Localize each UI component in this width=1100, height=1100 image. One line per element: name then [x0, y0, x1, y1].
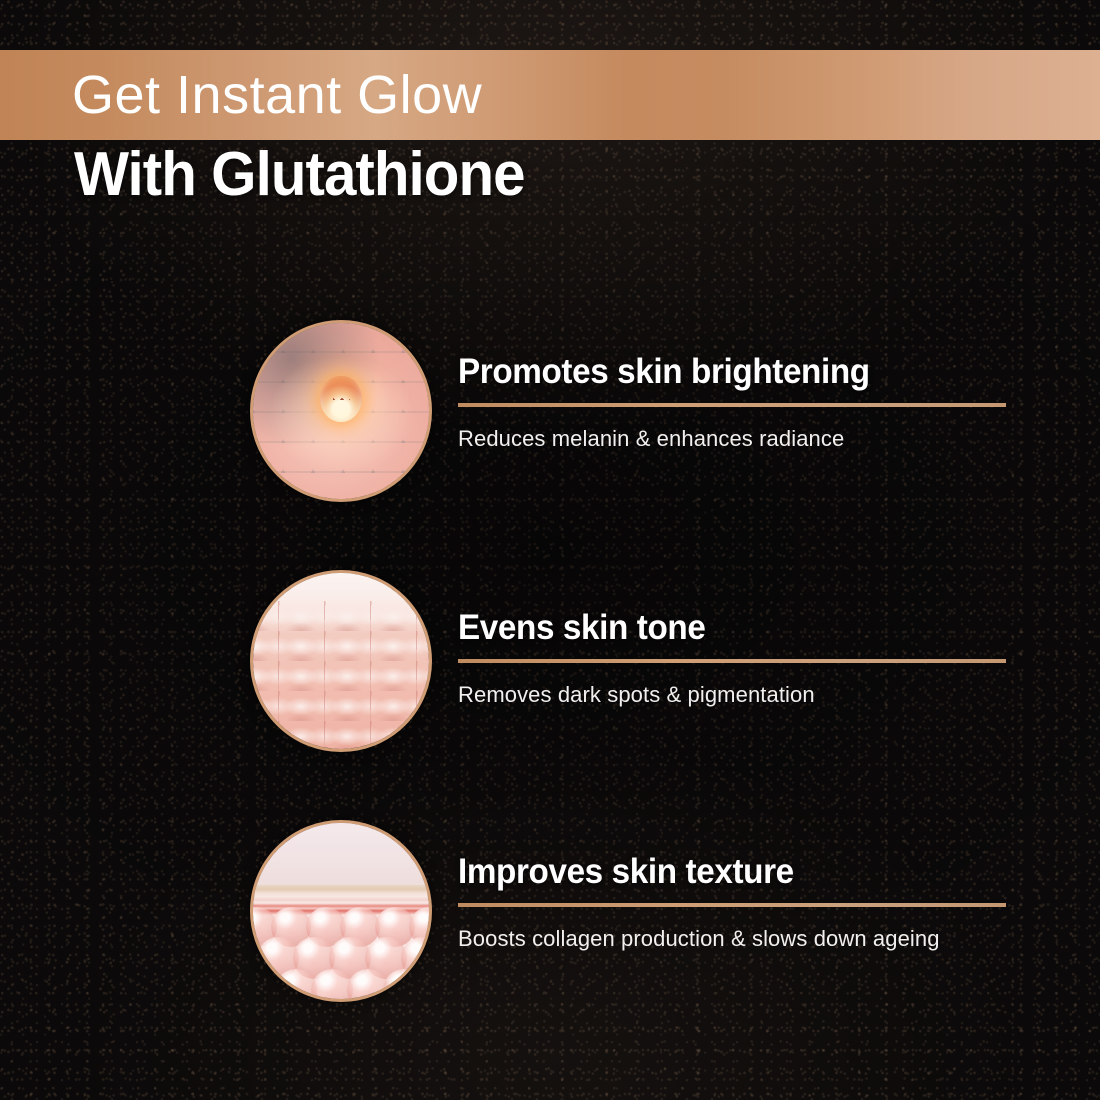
collagen-spheres-icon [250, 820, 432, 1002]
melanin-cell-glow-icon [250, 320, 432, 502]
glowing-melanin-cell-icon [320, 376, 362, 422]
top-banner: Get Instant Glow [0, 50, 1100, 140]
feature-subtitle: Reduces melanin & enhances radiance [458, 424, 1010, 453]
feature-text: Evens skin tone Removes dark spots & pig… [458, 610, 1010, 709]
feature-title: Promotes skin brightening [458, 354, 982, 389]
feature-text: Promotes skin brightening Reduces melani… [458, 354, 1010, 453]
feature-divider [458, 659, 1006, 663]
epidermis-layer [253, 823, 429, 892]
feature-title: Improves skin texture [458, 854, 982, 889]
horizon-haze [253, 573, 429, 633]
feature-subtitle: Boosts collagen production & slows down … [458, 924, 1010, 953]
banner-title: Get Instant Glow [72, 68, 482, 122]
feature-divider [458, 903, 1006, 907]
feature-item: Evens skin tone Removes dark spots & pig… [250, 570, 1010, 760]
feature-subtitle: Removes dark spots & pigmentation [458, 680, 1010, 709]
feature-item: Promotes skin brightening Reduces melani… [250, 320, 1010, 510]
feature-divider [458, 403, 1006, 407]
feature-item: Improves skin texture Boosts collagen pr… [250, 820, 1010, 1010]
skin-cross-section-art [253, 823, 429, 999]
quilted-skin-art [253, 573, 429, 749]
poster: Get Instant Glow With Glutathione Promot… [0, 0, 1100, 1100]
feature-title: Evens skin tone [458, 610, 982, 645]
quilted-skin-surface-icon [250, 570, 432, 752]
feature-text: Improves skin texture Boosts collagen pr… [458, 854, 1010, 953]
page-title: With Glutathione [74, 142, 525, 207]
collagen-sphere-group [253, 911, 429, 999]
